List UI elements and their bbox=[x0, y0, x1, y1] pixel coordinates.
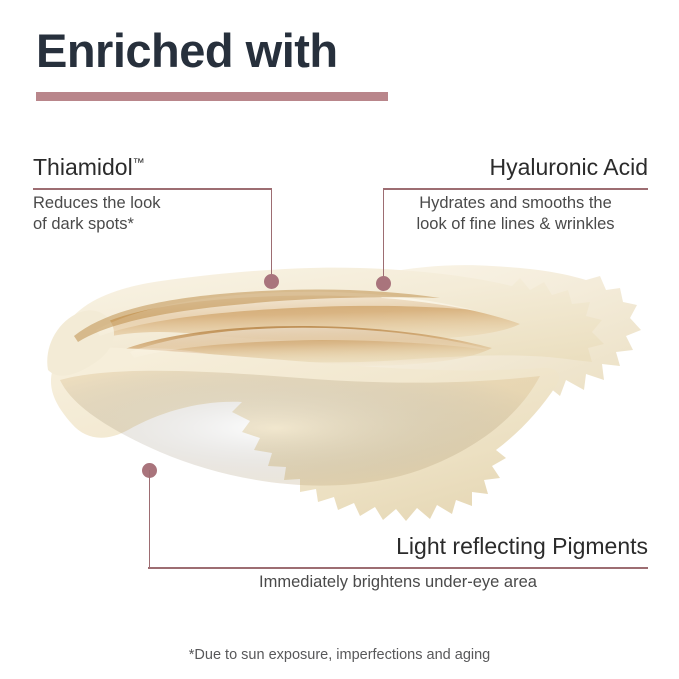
leader-line-horizontal-thiamidol bbox=[33, 188, 272, 190]
callout-heading-text: Light reflecting Pigments bbox=[396, 533, 648, 559]
leader-line-vertical-light-reflecting-pigments bbox=[149, 470, 151, 568]
callout-body-hyaluronic-acid: Hydrates and smooths the look of fine li… bbox=[383, 193, 648, 235]
callout-body-line: Hydrates and smooths the bbox=[383, 193, 648, 214]
callout-body-line: of dark spots* bbox=[33, 214, 161, 235]
trademark-symbol: ™ bbox=[133, 155, 145, 169]
callout-heading-hyaluronic-acid: Hyaluronic Acid bbox=[489, 155, 648, 181]
leader-line-horizontal-hyaluronic-acid bbox=[383, 188, 648, 190]
callout-heading-text: Hyaluronic Acid bbox=[489, 154, 648, 180]
leader-dot-hyaluronic-acid bbox=[376, 276, 391, 291]
leader-line-vertical-hyaluronic-acid bbox=[383, 188, 385, 284]
leader-line-horizontal-light-reflecting-pigments bbox=[148, 567, 648, 569]
leader-line-vertical-thiamidol bbox=[271, 188, 273, 282]
callout-body-line: Immediately brightens under-eye area bbox=[148, 572, 648, 593]
callout-heading-light-reflecting-pigments: Light reflecting Pigments bbox=[396, 534, 648, 560]
callout-body-thiamidol: Reduces the look of dark spots* bbox=[33, 193, 161, 235]
leader-dot-thiamidol bbox=[264, 274, 279, 289]
title-underline-accent bbox=[36, 92, 388, 101]
callout-body-line: look of fine lines & wrinkles bbox=[383, 214, 648, 235]
callout-heading-text: Thiamidol bbox=[33, 154, 133, 180]
callout-heading-thiamidol: Thiamidol™ bbox=[33, 155, 145, 181]
callout-body-line: Reduces the look bbox=[33, 193, 161, 214]
infographic-canvas: Enriched with bbox=[0, 0, 679, 679]
callout-body-light-reflecting-pigments: Immediately brightens under-eye area bbox=[148, 572, 648, 593]
footnote-disclaimer: *Due to sun exposure, imperfections and … bbox=[0, 647, 679, 663]
page-title: Enriched with bbox=[36, 26, 338, 75]
